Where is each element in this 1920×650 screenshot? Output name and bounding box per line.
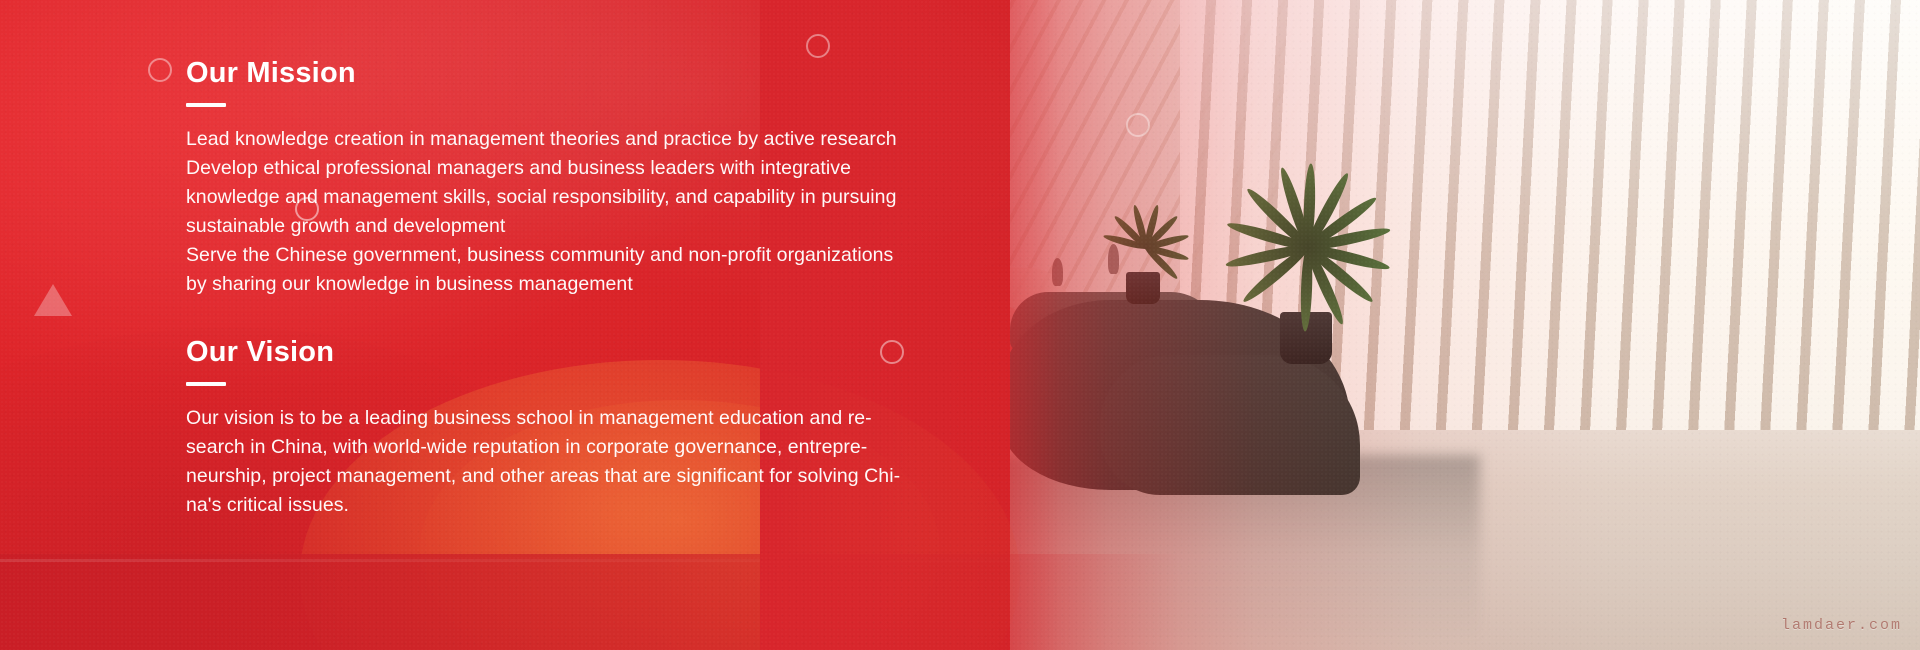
vision-section: Our Vision Our vision is to be a leading… — [186, 337, 986, 520]
mission-section: Our Mission Lead knowledge creation in m… — [186, 58, 986, 299]
mission-heading-rule — [186, 103, 226, 107]
triangle-icon — [34, 284, 72, 316]
circle-outline-icon — [806, 34, 830, 58]
site-watermark: lamdaer.com — [1781, 617, 1902, 634]
mission-body-text: Lead knowledge creation in management th… — [186, 125, 986, 299]
banner-content: Our Mission Lead knowledge creation in m… — [186, 58, 986, 520]
vision-body-text: Our vision is to be a leading business s… — [186, 404, 986, 520]
mission-vision-banner: Our Mission Lead knowledge creation in m… — [0, 0, 1920, 650]
mission-heading: Our Mission — [186, 58, 986, 90]
circle-outline-icon — [148, 58, 172, 82]
vision-heading-rule — [186, 382, 226, 386]
vision-heading: Our Vision — [186, 337, 986, 369]
circle-outline-icon — [1126, 113, 1150, 137]
